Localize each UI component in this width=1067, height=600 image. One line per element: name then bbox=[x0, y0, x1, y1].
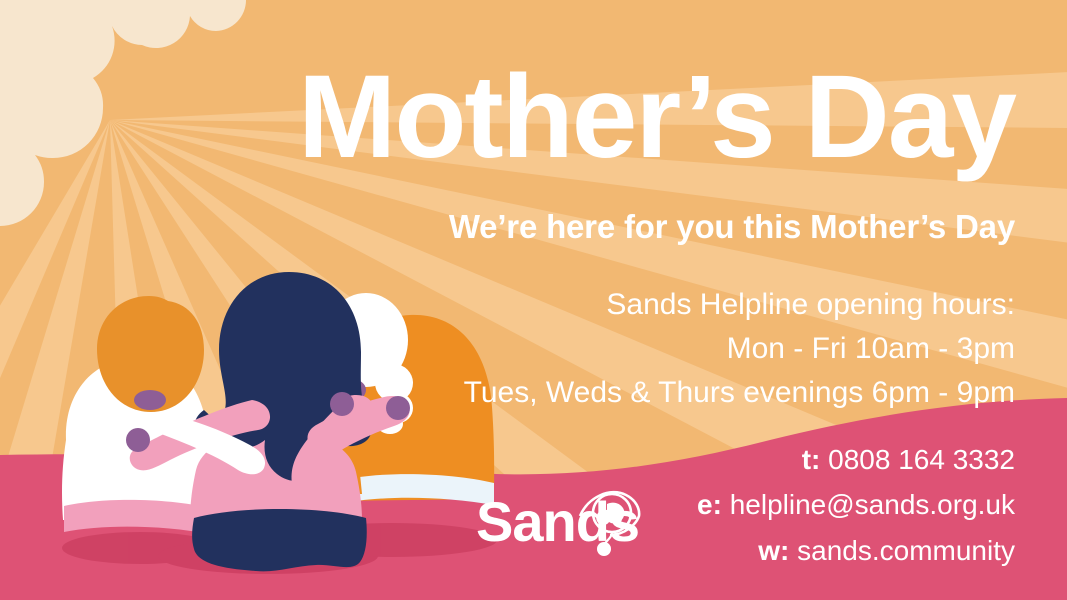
contact-phone: t: 0808 164 3332 bbox=[0, 437, 1015, 482]
page-subtitle: We’re here for you this Mother’s Day bbox=[0, 207, 1015, 247]
page-title: Mother’s Day bbox=[0, 58, 1015, 176]
teardrop-icon bbox=[597, 542, 611, 556]
mothers-day-poster: Mother’s Day We’re here for you this Mot… bbox=[0, 0, 1067, 600]
contact-phone-label: t: bbox=[802, 444, 821, 475]
contact-email-label: e: bbox=[697, 489, 722, 520]
helpline-hours-block: Sands Helpline opening hours: Mon - Fri … bbox=[0, 283, 1015, 415]
helpline-hours-heading: Sands Helpline opening hours: bbox=[0, 283, 1015, 327]
helpline-hours-evening: Tues, Weds & Thurs evenings 6pm - 9pm bbox=[0, 371, 1015, 415]
helpline-hours-weekday: Mon - Fri 10am - 3pm bbox=[0, 327, 1015, 371]
sands-logo[interactable]: Sands bbox=[476, 483, 646, 555]
contact-website-label: w: bbox=[758, 535, 789, 566]
contact-website-value[interactable]: sands.community bbox=[797, 535, 1015, 566]
contact-phone-value[interactable]: 0808 164 3332 bbox=[828, 444, 1015, 475]
contact-email-value[interactable]: helpline@sands.org.uk bbox=[730, 489, 1015, 520]
